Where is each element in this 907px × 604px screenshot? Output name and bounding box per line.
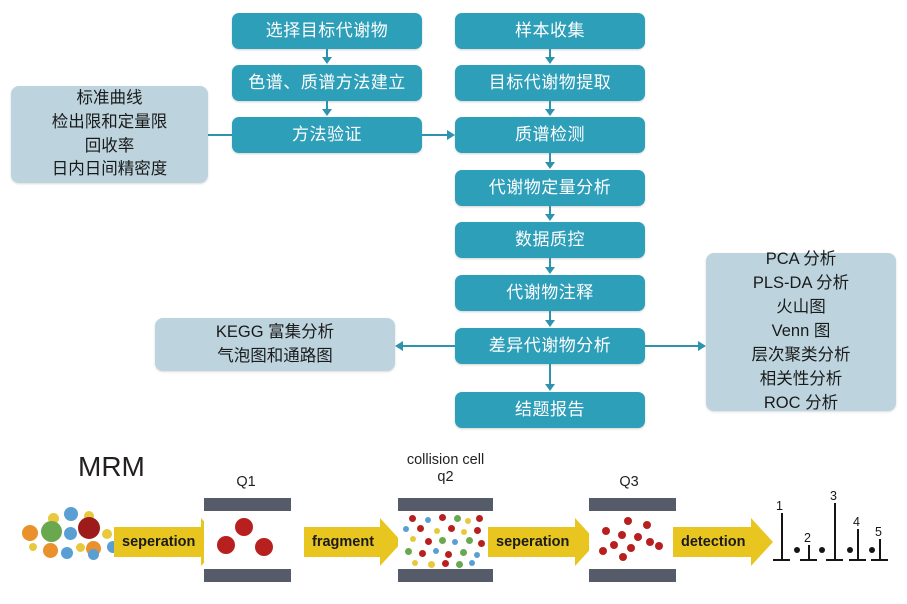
peak-label: 3	[830, 489, 837, 503]
quad-bar-top	[204, 498, 291, 511]
ion-dot	[655, 542, 663, 550]
sample-dot	[64, 507, 78, 521]
connector-validation-to-metrics	[208, 134, 232, 136]
process-box-label: 代谢物注释	[506, 284, 594, 303]
ion-dot	[619, 553, 627, 561]
panel-line: PCA 分析	[712, 248, 890, 272]
ion-dot	[235, 518, 253, 536]
fragment-dot	[461, 529, 467, 535]
statistics-panel: PCA 分析 PLS-DA 分析 火山图 Venn 图 层次聚类分析 相关性分析…	[706, 253, 896, 411]
fragment-dot	[442, 560, 449, 567]
fragment-dot	[476, 515, 483, 522]
fragment-dot	[474, 527, 481, 534]
arrow-head-down	[545, 320, 555, 327]
peak-label: 4	[853, 515, 860, 529]
panel-line: PLS-DA 分析	[712, 272, 890, 296]
ion-dot	[599, 547, 607, 555]
arrow-head-down	[545, 267, 555, 274]
sample-dot	[29, 543, 37, 551]
quad-bar-top	[398, 498, 493, 511]
panel-line: 日内日间精密度	[17, 158, 202, 182]
quad-bar-bottom	[398, 569, 493, 582]
ion-dot	[217, 536, 235, 554]
fragment-dot	[474, 552, 480, 558]
peak-dot	[794, 547, 800, 553]
arrow-head-down	[545, 214, 555, 221]
sample-dot	[102, 529, 112, 539]
quad-bar-top	[589, 498, 676, 511]
fragment-dot	[425, 538, 432, 545]
process-box-label: 选择目标代谢物	[266, 22, 389, 41]
fragment-dot	[433, 548, 439, 554]
peak-base	[849, 559, 866, 561]
quadrupole-q3	[589, 498, 676, 582]
fragment-dot	[403, 526, 409, 532]
fragment-dot	[452, 539, 458, 545]
peak-stem	[781, 513, 783, 559]
peak-dot	[869, 547, 875, 553]
ion-dot	[627, 544, 635, 552]
fragment-dot	[469, 560, 475, 566]
process-box-label: 代谢物定量分析	[489, 179, 612, 198]
fragment-dot	[409, 515, 416, 522]
fragment-dot	[466, 537, 473, 544]
peak-base	[800, 559, 817, 561]
process-box-metabolite-quantitation: 代谢物定量分析	[455, 170, 645, 206]
connector-differential-to-statistics	[645, 345, 698, 347]
sample-dot	[76, 543, 85, 552]
arrow-head-down	[545, 162, 555, 169]
panel-line: 层次聚类分析	[712, 344, 890, 368]
sample-dot	[88, 549, 99, 560]
fragment-dot	[478, 540, 485, 547]
fragment-dot	[456, 561, 463, 568]
arrow-head-right	[447, 130, 455, 140]
arrow-head-down	[545, 384, 555, 391]
fragment-dot	[410, 536, 416, 542]
quad-chamber	[589, 511, 676, 569]
process-box-label: 方法验证	[292, 126, 362, 145]
arrow-head-down	[545, 109, 555, 116]
peak-stem	[834, 503, 836, 559]
quad-bar-bottom	[204, 569, 291, 582]
arrow-fragment: fragment	[304, 518, 402, 566]
quadrupole-q1	[204, 498, 291, 582]
process-box-label: 数据质控	[515, 231, 585, 250]
process-box-method-validation: 方法验证	[232, 117, 422, 153]
ion-dot	[634, 533, 642, 541]
connector-differential-to-kegg	[403, 345, 455, 347]
fragment-dot	[439, 514, 446, 521]
fragment-dot	[460, 549, 467, 556]
peak-stem	[879, 539, 881, 559]
fragment-dot	[439, 537, 446, 544]
sample-dot	[22, 525, 38, 541]
fragment-dot	[445, 551, 452, 558]
arrow-label: seperation	[114, 527, 201, 557]
panel-line: ROC 分析	[712, 392, 890, 416]
fragment-dot	[428, 561, 435, 568]
peak-base	[773, 559, 790, 561]
process-box-method-establishment: 色谱、质谱方法建立	[232, 65, 422, 101]
process-box-sample-collection: 样本收集	[455, 13, 645, 49]
fragment-dot	[405, 548, 412, 555]
stage-label-q1: Q1	[206, 474, 286, 491]
peak-label: 5	[875, 525, 882, 539]
quad-bar-bottom	[589, 569, 676, 582]
process-box-data-quality-control: 数据质控	[455, 222, 645, 258]
process-box-metabolite-annotation: 代谢物注释	[455, 275, 645, 311]
ion-dot	[610, 541, 618, 549]
ion-dot	[618, 531, 626, 539]
ion-dot	[646, 538, 654, 546]
validation-metrics-panel: 标准曲线 检出限和定量限 回收率 日内日间精密度	[11, 86, 208, 183]
peak-label: 1	[776, 499, 783, 513]
arrow-label: detection	[673, 527, 751, 557]
peak-base	[826, 559, 843, 561]
process-box-label: 结题报告	[515, 401, 585, 420]
arrow-label: seperation	[488, 527, 575, 557]
arrow-head-right	[698, 341, 706, 351]
collision-cell-q2	[398, 498, 493, 582]
quad-chamber	[398, 511, 493, 569]
fragment-dot	[454, 515, 461, 522]
ion-dot	[624, 517, 632, 525]
sample-dot	[61, 547, 73, 559]
peak-dot	[847, 547, 853, 553]
connector-validation-to-ms-detection	[422, 134, 447, 136]
fragment-dot	[417, 525, 424, 532]
fragment-dot	[465, 518, 471, 524]
fragment-dot	[412, 560, 418, 566]
quad-chamber	[204, 511, 291, 569]
peak-dot	[819, 547, 825, 553]
arrow-head-down	[322, 109, 332, 116]
panel-line: 标准曲线	[17, 87, 202, 111]
arrow-head-down	[322, 57, 332, 64]
panel-line: 火山图	[712, 296, 890, 320]
panel-line: KEGG 富集分析	[161, 321, 389, 345]
arrow-detection: detection	[673, 518, 773, 566]
process-box-select-target-metabolites: 选择目标代谢物	[232, 13, 422, 49]
panel-line: 相关性分析	[712, 368, 890, 392]
peak-stem	[857, 529, 859, 559]
ion-dot	[255, 538, 273, 556]
process-box-differential-metabolite-analysis: 差异代谢物分析	[455, 328, 645, 364]
sample-dot	[64, 527, 77, 540]
arrow-head-left	[395, 341, 403, 351]
ion-dot	[643, 521, 651, 529]
sample-dot	[78, 517, 100, 539]
fragment-dot	[419, 550, 426, 557]
process-box-target-metabolite-extraction: 目标代谢物提取	[455, 65, 645, 101]
panel-line: Venn 图	[712, 320, 890, 344]
arrow-label: fragment	[304, 527, 380, 557]
process-box-label: 色谱、质谱方法建立	[248, 74, 406, 93]
arrow-seperation-2: seperation	[488, 518, 597, 566]
sample-dot	[43, 543, 58, 558]
stage-label-q3: Q3	[584, 474, 674, 491]
detection-spectrum: 1 2 3 4 5	[770, 495, 890, 565]
panel-line: 检出限和定量限	[17, 111, 202, 135]
fragment-dot	[434, 528, 440, 534]
panel-line: 气泡图和通路图	[161, 345, 389, 369]
mrm-title: MRM	[78, 451, 145, 483]
process-box-label: 质谱检测	[515, 126, 585, 145]
process-box-label: 差异代谢物分析	[489, 337, 612, 356]
diagram-canvas: 选择目标代谢物 色谱、质谱方法建立 方法验证 标准曲线 检出限和定量限 回收率 …	[0, 0, 907, 604]
sample-mixture-cloud	[14, 505, 124, 567]
fragment-dot	[425, 517, 431, 523]
peak-base	[871, 559, 888, 561]
peak-stem	[808, 545, 810, 559]
sample-dot	[41, 521, 62, 542]
kegg-panel: KEGG 富集分析 气泡图和通路图	[155, 318, 395, 371]
process-box-label: 样本收集	[515, 22, 585, 41]
process-box-ms-detection: 质谱检测	[455, 117, 645, 153]
peak-label: 2	[804, 531, 811, 545]
connector-differential-to-report	[549, 364, 551, 385]
panel-line: 回收率	[17, 135, 202, 159]
stage-label-q2: collision cell q2	[393, 452, 498, 487]
ion-dot	[602, 527, 610, 535]
process-box-final-report: 结题报告	[455, 392, 645, 428]
arrow-head-down	[545, 57, 555, 64]
process-box-label: 目标代谢物提取	[489, 74, 612, 93]
fragment-dot	[448, 525, 455, 532]
